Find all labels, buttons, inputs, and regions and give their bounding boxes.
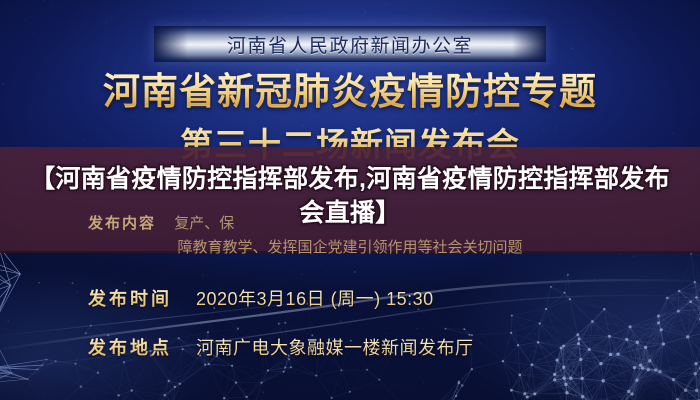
info-row-place: 发布地点 河南广电大象融媒一楼新闻发布厅: [88, 334, 474, 360]
time-value: 2020年3月16日 (周一) 15:30: [196, 285, 434, 311]
place-label: 发布地点: [88, 334, 180, 360]
press-conference-poster: 河南省人民政府新闻办公室 河南省新冠肺炎疫情防控专题 第三十二场新闻发布会 发布…: [0, 0, 700, 400]
overlay-caption: 【河南省疫情防控指挥部发布,河南省疫情防控指挥部发布会直播】: [0, 163, 700, 230]
info-row-time: 发布时间 2020年3月16日 (周一) 15:30: [88, 285, 474, 311]
info-block: 发布时间 2020年3月16日 (周一) 15:30 发布地点 河南广电大象融媒…: [88, 285, 474, 383]
time-label: 发布时间: [88, 285, 180, 311]
place-value: 河南广电大象融媒一楼新闻发布厅: [196, 334, 474, 360]
